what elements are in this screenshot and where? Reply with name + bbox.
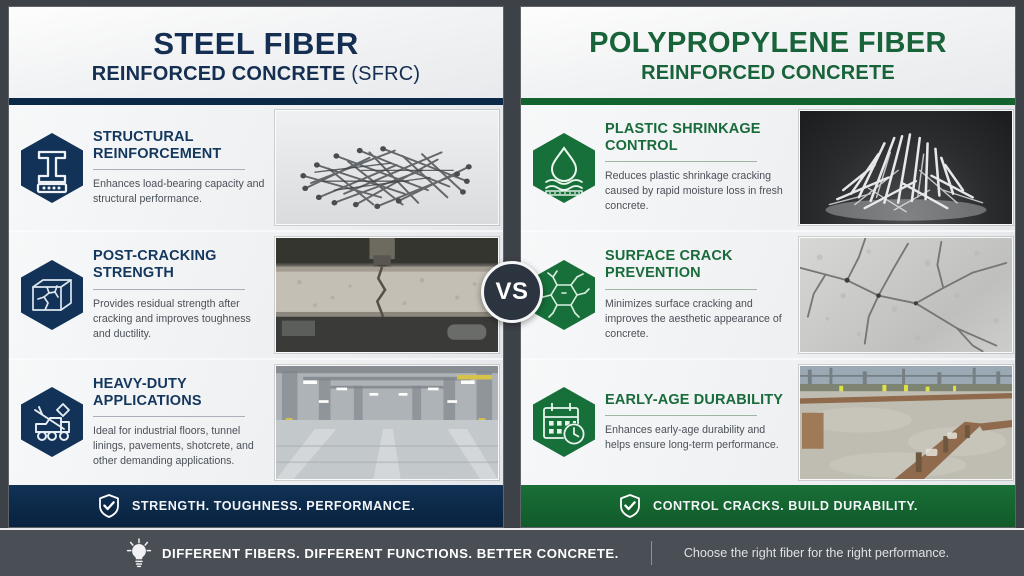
shield-check-icon	[97, 493, 121, 519]
feature-title: HEAVY-DUTY APPLICATIONS	[93, 376, 267, 416]
panel-polypropylene-fiber: POLYPROPYLENE FIBER REINFORCED CONCRETE	[512, 0, 1024, 528]
right-title-line1: POLYPROPYLENE FIBER	[589, 29, 947, 58]
cracked-block-icon	[19, 259, 85, 331]
icon-holder	[15, 386, 89, 458]
left-slogan-bar: STRENGTH. TOUGHNESS. PERFORMANCE.	[9, 485, 503, 527]
feature-text-group: EARLY-AGE DURABILITY Enhances early-age …	[521, 360, 799, 485]
feature-title: STRUCTURAL REINFORCEMENT	[93, 129, 267, 169]
right-title-line2: REINFORCED CONCRETE	[641, 63, 895, 83]
industrial-warehouse-floor-photo	[275, 365, 499, 480]
feature-image-holder	[275, 105, 503, 230]
crane-truck-icon	[19, 386, 85, 458]
feature-image-holder	[275, 360, 503, 485]
bottom-bar-divider	[651, 541, 652, 565]
divider-rule	[93, 289, 245, 290]
feature-row: POST-CRACKING STRENGTH Provides residual…	[9, 232, 503, 359]
feature-row: HEAVY-DUTY APPLICATIONS Ideal for indust…	[9, 360, 503, 485]
bottom-bar-headline: DIFFERENT FIBERS. DIFFERENT FUNCTIONS. B…	[162, 546, 619, 561]
bottom-bar: DIFFERENT FIBERS. DIFFERENT FUNCTIONS. B…	[0, 528, 1024, 576]
feature-text: STRUCTURAL REINFORCEMENT Enhances load-b…	[89, 129, 267, 207]
feature-text: PLASTIC SHRINKAGE CONTROL Reduces plasti…	[601, 121, 791, 214]
feature-text-group: POST-CRACKING STRENGTH Provides residual…	[9, 232, 275, 357]
feature-image-holder	[799, 105, 1015, 230]
divider-rule	[605, 289, 757, 290]
shield-check-icon	[618, 493, 642, 519]
feature-title: PLASTIC SHRINKAGE CONTROL	[605, 121, 791, 161]
divider-rule	[93, 169, 245, 170]
icon-holder	[527, 132, 601, 204]
feature-text-group: HEAVY-DUTY APPLICATIONS Ideal for indust…	[9, 360, 275, 485]
feature-description: Enhances early-age durability and helps …	[605, 423, 791, 453]
i-beam-icon	[19, 132, 85, 204]
feature-image-holder	[275, 232, 503, 357]
water-droplet-ripple-icon	[531, 132, 597, 204]
feature-text-group: STRUCTURAL REINFORCEMENT Enhances load-b…	[9, 105, 275, 230]
polypropylene-fibers-photo	[799, 110, 1013, 225]
feature-text-group: PLASTIC SHRINKAGE CONTROL Reduces plasti…	[521, 105, 799, 230]
icon-holder	[15, 259, 89, 331]
right-slogan-bar: CONTROL CRACKS. BUILD DURABILITY.	[521, 485, 1015, 527]
feature-image-holder	[799, 232, 1015, 357]
icon-holder	[15, 132, 89, 204]
infographic-root: STEEL FIBER REINFORCED CONCRETE (SFRC)	[0, 0, 1024, 576]
feature-text: POST-CRACKING STRENGTH Provides residual…	[89, 248, 267, 341]
right-slogan-text: CONTROL CRACKS. BUILD DURABILITY.	[653, 499, 918, 513]
concrete-beam-load-test-photo	[275, 237, 499, 352]
right-panel-header: POLYPROPYLENE FIBER REINFORCED CONCRETE	[521, 7, 1015, 105]
divider-rule	[605, 415, 757, 416]
feature-text-group: SURFACE CRACK PREVENTION Minimizes surfa…	[521, 232, 799, 357]
steel-fibers-photo	[275, 110, 499, 225]
feature-description: Ideal for industrial floors, tunnel lini…	[93, 424, 267, 469]
feature-description: Provides residual strength after crackin…	[93, 297, 267, 342]
feature-text: EARLY-AGE DURABILITY Enhances early-age …	[601, 392, 791, 453]
panel-steel-fiber: STEEL FIBER REINFORCED CONCRETE (SFRC)	[0, 0, 512, 528]
feature-title: EARLY-AGE DURABILITY	[605, 392, 791, 415]
feature-row: EARLY-AGE DURABILITY Enhances early-age …	[521, 360, 1015, 485]
left-title-line1: STEEL FIBER	[153, 28, 358, 59]
icon-holder	[527, 386, 601, 458]
calendar-clock-icon	[531, 386, 597, 458]
divider-rule	[605, 161, 757, 162]
right-feature-rows: PLASTIC SHRINKAGE CONTROL Reduces plasti…	[521, 105, 1015, 485]
left-title-line2-main: REINFORCED CONCRETE	[92, 63, 346, 85]
bottom-bar-left: DIFFERENT FIBERS. DIFFERENT FUNCTIONS. B…	[0, 538, 949, 568]
vs-badge: VS	[481, 261, 543, 323]
feature-title: SURFACE CRACK PREVENTION	[605, 248, 791, 288]
feature-text: SURFACE CRACK PREVENTION Minimizes surfa…	[601, 248, 791, 341]
left-panel-header: STEEL FIBER REINFORCED CONCRETE (SFRC)	[9, 7, 503, 105]
lightbulb-icon	[126, 538, 152, 568]
left-slogan-text: STRENGTH. TOUGHNESS. PERFORMANCE.	[132, 499, 415, 513]
feature-description: Minimizes surface cracking and improves …	[605, 297, 791, 342]
feature-description: Reduces plastic shrinkage cracking cause…	[605, 169, 791, 214]
feature-row: PLASTIC SHRINKAGE CONTROL Reduces plasti…	[521, 105, 1015, 232]
cracked-concrete-surface-photo	[799, 237, 1013, 352]
feature-image-holder	[799, 360, 1015, 485]
bottom-bar-subline: Choose the right fiber for the right per…	[684, 546, 949, 560]
left-feature-rows: STRUCTURAL REINFORCEMENT Enhances load-b…	[9, 105, 503, 485]
feature-description: Enhances load-bearing capacity and struc…	[93, 177, 267, 207]
feature-row: SURFACE CRACK PREVENTION Minimizes surfa…	[521, 232, 1015, 359]
fresh-concrete-slab-site-photo	[799, 365, 1013, 480]
left-title-line2-sub: (SFRC)	[346, 63, 421, 85]
feature-text: HEAVY-DUTY APPLICATIONS Ideal for indust…	[89, 376, 267, 469]
feature-row: STRUCTURAL REINFORCEMENT Enhances load-b…	[9, 105, 503, 232]
left-title-line2: REINFORCED CONCRETE (SFRC)	[92, 64, 421, 84]
feature-title: POST-CRACKING STRENGTH	[93, 248, 267, 288]
divider-rule	[93, 416, 245, 417]
